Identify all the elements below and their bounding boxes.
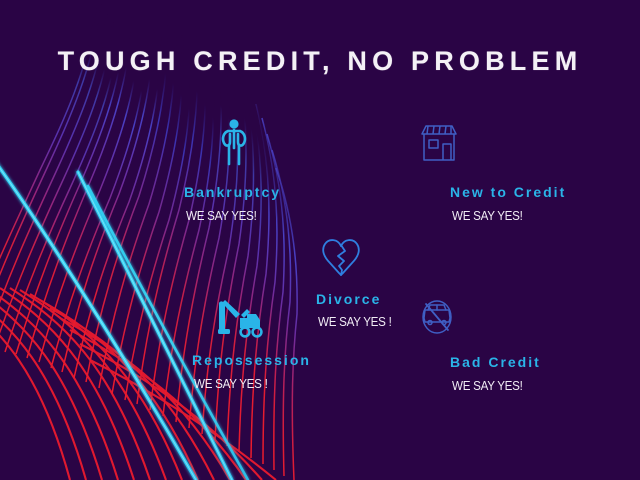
feature-title: Bad Credit (450, 354, 541, 370)
tow-truck-icon (216, 296, 264, 342)
banner-content: TOUGH CREDIT, NO PROBLEM Bankruptcy WE S… (0, 0, 640, 480)
promo-banner: TOUGH CREDIT, NO PROBLEM Bankruptcy WE S… (0, 0, 640, 480)
feature-subtitle: WE SAY YES! (186, 209, 257, 223)
broken-heart-icon (320, 236, 362, 278)
feature-title: Divorce (316, 291, 381, 307)
feature-subtitle: WE SAY YES! (452, 209, 523, 223)
no-car-icon (417, 296, 457, 338)
feature-subtitle: WE SAY YES ! (194, 377, 268, 391)
storefront-icon (419, 122, 459, 164)
feature-title: New to Credit (450, 184, 566, 200)
feature-subtitle: WE SAY YES ! (318, 315, 392, 329)
page-title: TOUGH CREDIT, NO PROBLEM (0, 46, 640, 77)
person-empty-pockets-icon (218, 118, 250, 168)
feature-title: Bankruptcy (184, 184, 281, 200)
feature-subtitle: WE SAY YES! (452, 379, 523, 393)
feature-title: Repossession (192, 352, 311, 368)
